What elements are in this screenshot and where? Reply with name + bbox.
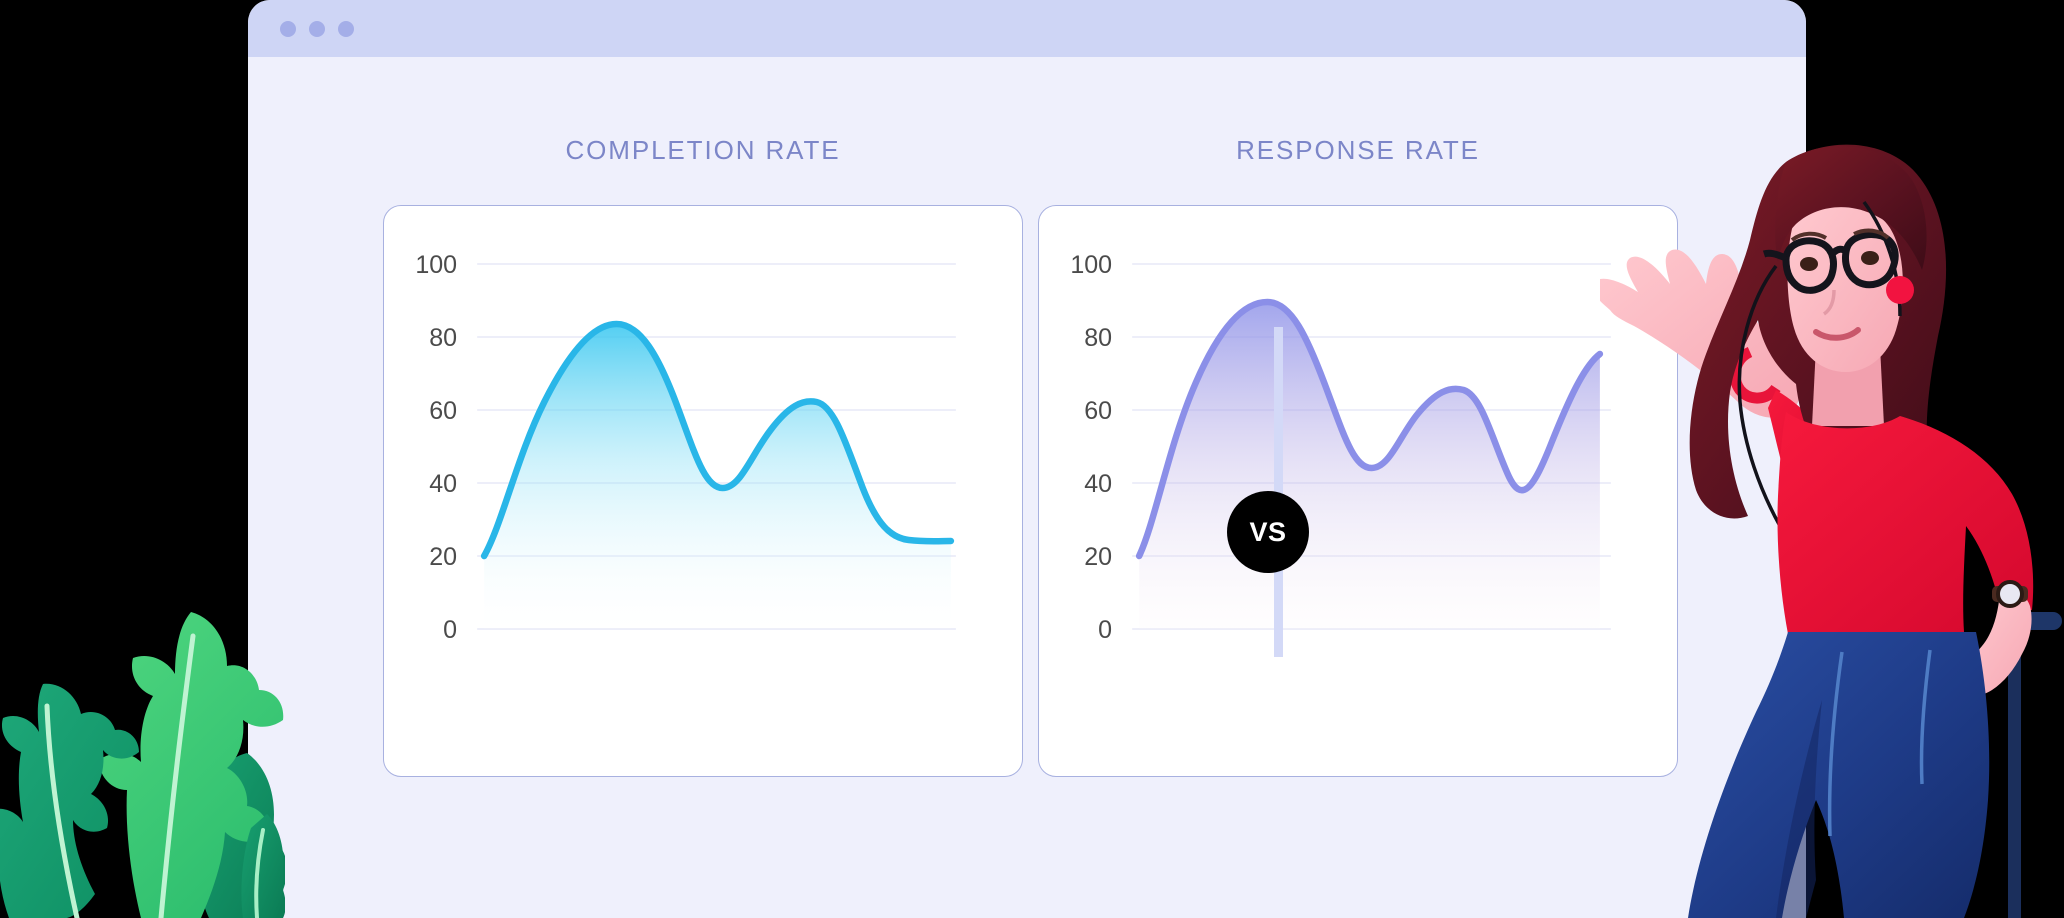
window-title-bar bbox=[248, 0, 1806, 57]
panel-completion-rate: COMPLETION RATE bbox=[383, 135, 1023, 777]
response-rate-chart: 100 80 60 40 20 0 bbox=[1039, 206, 1677, 776]
y-axis-ticks-response: 100 80 60 40 20 0 bbox=[1070, 251, 1112, 644]
response-rate-chart-card[interactable]: 100 80 60 40 20 0 bbox=[1038, 205, 1678, 777]
woman-presenter-illustration bbox=[1600, 140, 2064, 918]
response-rate-area-chart: 100 80 60 40 20 0 bbox=[1039, 206, 1677, 776]
plant-illustration bbox=[0, 578, 285, 918]
y-tick-label: 100 bbox=[1070, 251, 1112, 279]
response-rate-title: RESPONSE RATE bbox=[1038, 135, 1678, 166]
y-tick-label: 0 bbox=[1098, 616, 1112, 644]
y-tick-label: 60 bbox=[1084, 397, 1112, 425]
y-tick-label: 40 bbox=[429, 470, 457, 498]
completion-rate-area-chart: 100 80 60 40 20 0 bbox=[384, 206, 1022, 776]
y-tick-label: 40 bbox=[1084, 470, 1112, 498]
y-axis-ticks-completion: 100 80 60 40 20 0 bbox=[415, 251, 457, 644]
earring bbox=[1886, 276, 1914, 304]
vs-badge: VS bbox=[1227, 491, 1309, 573]
browser-window: COMPLETION RATE bbox=[248, 0, 1806, 918]
woman-character-icon bbox=[1600, 140, 2064, 918]
completion-rate-chart: 100 80 60 40 20 0 bbox=[384, 206, 1022, 776]
completion-rate-chart-card[interactable]: 100 80 60 40 20 0 bbox=[383, 205, 1023, 777]
y-tick-label: 100 bbox=[415, 251, 457, 279]
y-tick-label: 20 bbox=[429, 543, 457, 571]
completion-rate-title: COMPLETION RATE bbox=[383, 135, 1023, 166]
vs-badge-label: VS bbox=[1249, 517, 1286, 548]
plant-leaves-icon bbox=[0, 578, 285, 918]
y-tick-label: 60 bbox=[429, 397, 457, 425]
maximize-dot-icon[interactable] bbox=[338, 21, 354, 37]
y-tick-label: 20 bbox=[1084, 543, 1112, 571]
y-tick-label: 80 bbox=[429, 324, 457, 352]
completion-area-fill bbox=[484, 324, 951, 629]
panels-container: COMPLETION RATE bbox=[248, 57, 1806, 918]
minimize-dot-icon[interactable] bbox=[309, 21, 325, 37]
panel-response-rate: RESPONSE RATE bbox=[1038, 135, 1678, 777]
y-tick-label: 80 bbox=[1084, 324, 1112, 352]
window-controls bbox=[280, 21, 354, 37]
y-tick-label: 0 bbox=[443, 616, 457, 644]
close-dot-icon[interactable] bbox=[280, 21, 296, 37]
